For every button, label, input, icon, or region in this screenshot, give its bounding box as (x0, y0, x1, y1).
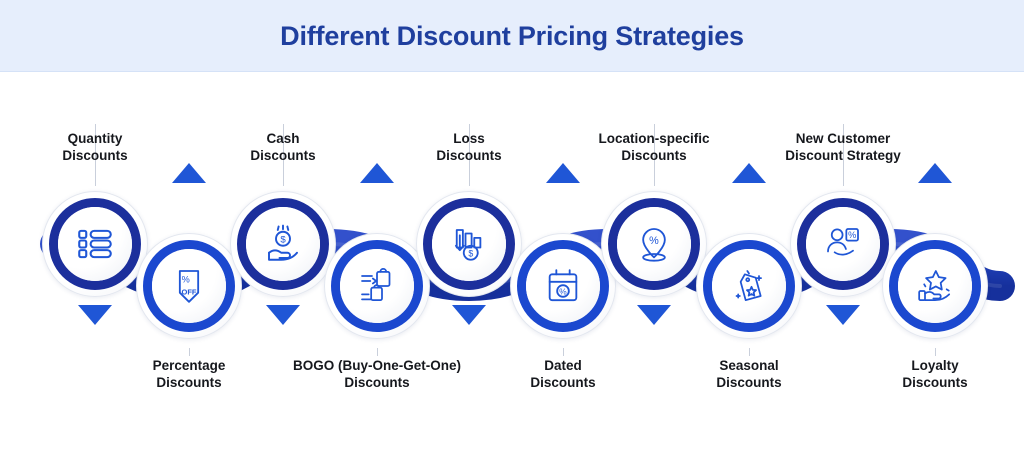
marker-triangle-up-loyalty (918, 163, 952, 183)
node-location[interactable]: % (608, 198, 700, 290)
node-percentage[interactable]: % OFF (143, 240, 235, 332)
node-seasonal[interactable] (703, 240, 795, 332)
node-quantity[interactable] (49, 198, 141, 290)
svg-text:$: $ (468, 248, 473, 258)
node-dated[interactable]: % (517, 240, 609, 332)
marker-triangle-up-seasonal (732, 163, 766, 183)
label-bogo: BOGO (Buy-One-Get-One) Discounts (272, 357, 482, 391)
leader-line-seasonal (749, 348, 750, 356)
node-loss[interactable]: $ (423, 198, 515, 290)
marker-triangle-up-bogo (360, 163, 394, 183)
map-pin-percent-icon: % (617, 207, 691, 281)
svg-text:%: % (848, 230, 856, 240)
label-loyalty: Loyalty Discounts (865, 357, 1005, 391)
label-location: Location-specific Discounts (569, 130, 739, 164)
declining-chart-coin-icon: $ (432, 207, 506, 281)
label-seasonal: Seasonal Discounts (679, 357, 819, 391)
marker-triangle-down-loss (452, 305, 486, 325)
diagram-canvas: Quantity Discounts (0, 72, 1024, 465)
label-loss: Loss Discounts (399, 130, 539, 164)
infographic-page: Different Discount Pricing Strategies Qu… (0, 0, 1024, 465)
leader-line-loyalty (935, 348, 936, 356)
svg-text:$: $ (280, 234, 286, 245)
label-cash: Cash Discounts (213, 130, 353, 164)
node-newcustomer[interactable]: % (797, 198, 889, 290)
checklist-icon (58, 207, 132, 281)
leader-line-dated (563, 348, 564, 356)
svg-text:%: % (182, 275, 190, 285)
marker-triangle-down-cash (266, 305, 300, 325)
label-newcustomer: New Customer Discount Strategy (763, 130, 923, 164)
marker-triangle-up-percentage (172, 163, 206, 183)
page-title: Different Discount Pricing Strategies (0, 0, 1024, 72)
hand-star-icon (898, 249, 972, 323)
leader-line-percentage (189, 348, 190, 356)
node-loyalty[interactable] (889, 240, 981, 332)
svg-text:OFF: OFF (182, 287, 197, 296)
label-percentage: Percentage Discounts (119, 357, 259, 391)
marker-triangle-down-newcustomer (826, 305, 860, 325)
node-cash[interactable]: $ (237, 198, 329, 290)
person-percent-icon: % (806, 207, 880, 281)
marker-triangle-up-dated (546, 163, 580, 183)
two-bags-swap-icon (340, 249, 414, 323)
svg-text:%: % (649, 235, 659, 247)
leader-line-bogo (377, 348, 378, 356)
label-quantity: Quantity Discounts (25, 130, 165, 164)
tag-star-sparkle-icon (712, 249, 786, 323)
calendar-percent-icon: % (526, 249, 600, 323)
node-bogo[interactable] (331, 240, 423, 332)
percent-off-tag-icon: % OFF (152, 249, 226, 323)
label-dated: Dated Discounts (493, 357, 633, 391)
svg-text:%: % (559, 286, 567, 296)
hand-coin-icon: $ (246, 207, 320, 281)
marker-triangle-down-location (637, 305, 671, 325)
marker-triangle-down-quantity (78, 305, 112, 325)
